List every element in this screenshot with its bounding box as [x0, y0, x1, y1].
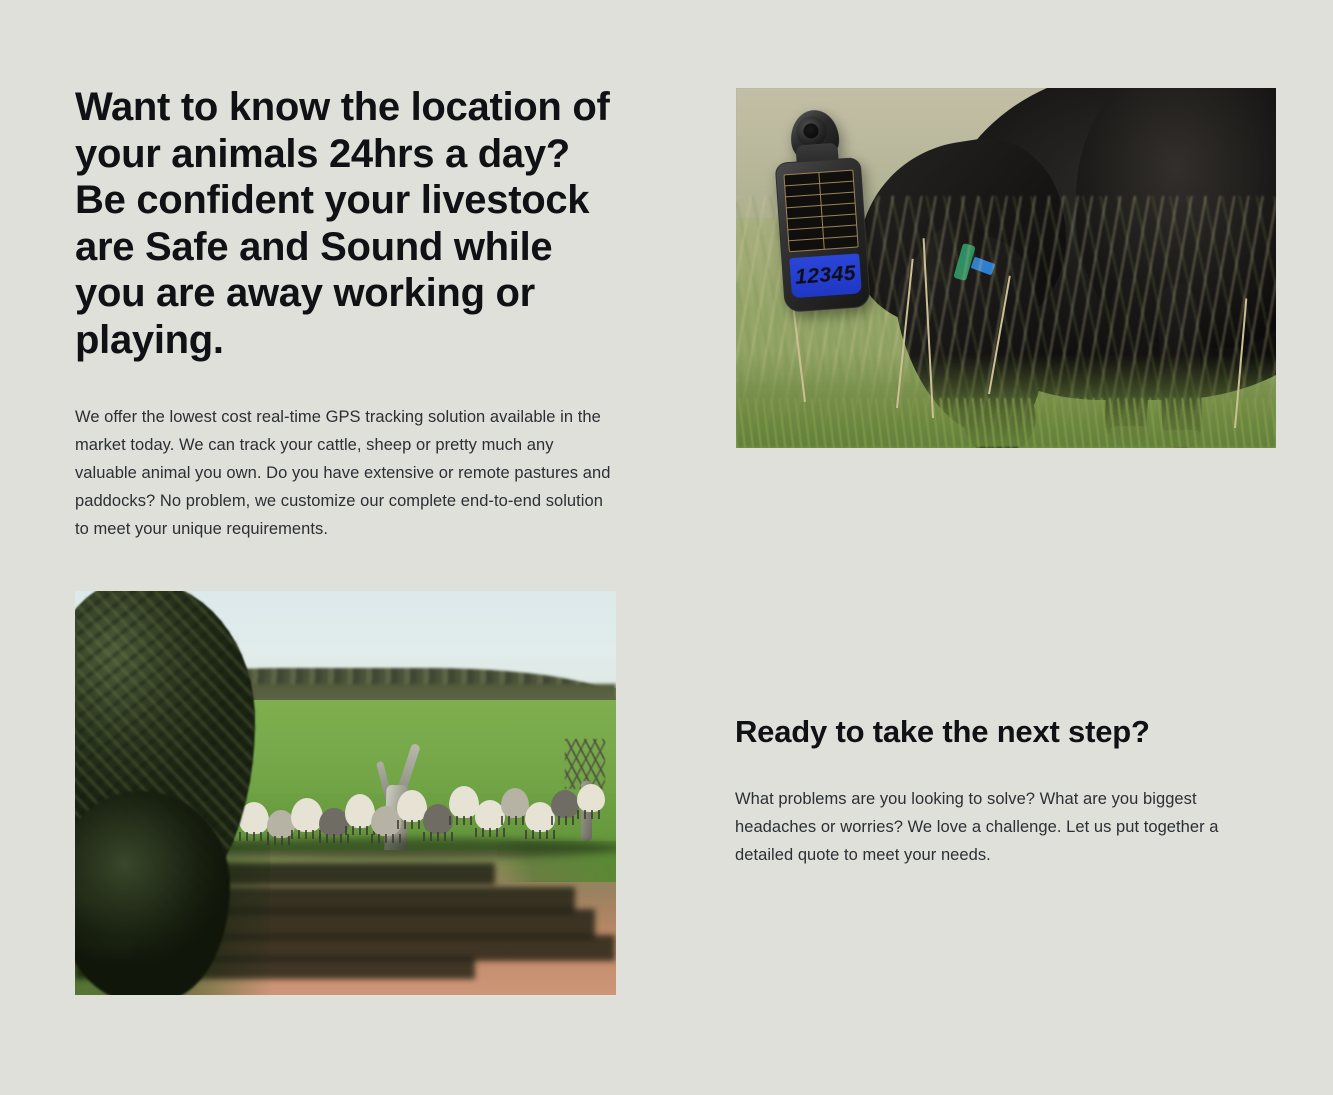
sheep	[551, 790, 579, 818]
tag-id-number: 12345	[794, 262, 856, 290]
sheep	[577, 784, 605, 812]
foreground-grass-blades	[736, 398, 1276, 448]
sheep-scene	[75, 591, 616, 995]
tree-lower-foliage	[75, 791, 230, 995]
sheep-paddock-image	[75, 591, 616, 995]
sheep-legs	[577, 810, 605, 819]
cow-pasture-image: 12345	[736, 88, 1276, 448]
sheep-legs	[371, 834, 401, 843]
intro-paragraph: We offer the lowest cost real-time GPS t…	[75, 403, 615, 543]
cta-heading: Ready to take the next step?	[735, 712, 1265, 752]
cow-scene: 12345	[736, 88, 1276, 448]
gps-ear-tag-graphic: 12345	[769, 107, 871, 313]
sheep-legs	[525, 830, 555, 839]
cta-paragraph: What problems are you looking to solve? …	[735, 785, 1263, 869]
sheep-legs	[423, 832, 453, 841]
cta-section: Ready to take the next step? What proble…	[735, 712, 1265, 869]
headline-emphasis: Safe and Sound	[145, 225, 443, 269]
intro-section: Want to know the location of your animal…	[75, 84, 620, 543]
tag-solar-panel	[783, 170, 858, 253]
page-root: Want to know the location of your animal…	[0, 0, 1333, 1095]
tag-id-label: 12345	[789, 253, 862, 298]
sheep-legs	[551, 816, 579, 825]
sheep-flock	[185, 784, 615, 846]
sheep-legs	[319, 834, 349, 843]
sheep	[291, 798, 323, 832]
page-title: Want to know the location of your animal…	[75, 84, 620, 363]
sheep-legs	[475, 828, 505, 837]
sheep-legs	[239, 832, 269, 841]
